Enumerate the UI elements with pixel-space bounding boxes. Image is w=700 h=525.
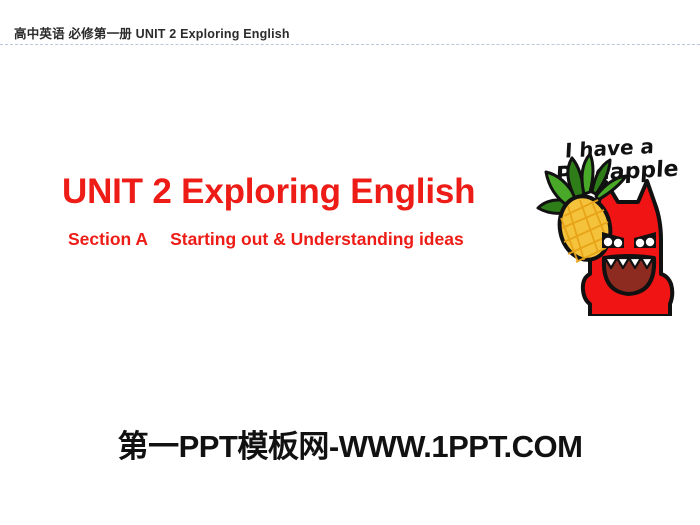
title-block: UNIT 2 Exploring English Section AStarti… [0, 168, 520, 250]
illustration-red-monster-pineapple: I have a Pineapple [528, 124, 696, 316]
slide-canvas: 高中英语 必修第一册 UNIT 2 Exploring English UNIT… [0, 0, 700, 525]
section-topic: Starting out & Understanding ideas [170, 229, 464, 249]
watermark-text: 第一PPT模板网-WWW.1PPT.COM [0, 421, 700, 466]
page-subtitle: Section AStarting out & Understanding id… [0, 228, 520, 250]
header-divider [0, 44, 700, 45]
section-label: Section A [68, 229, 148, 249]
monster-mouth [604, 256, 654, 294]
slide-header: 高中英语 必修第一册 UNIT 2 Exploring English [0, 0, 700, 45]
page-title: UNIT 2 Exploring English [0, 168, 520, 216]
header-breadcrumb: 高中英语 必修第一册 UNIT 2 Exploring English [14, 23, 290, 42]
